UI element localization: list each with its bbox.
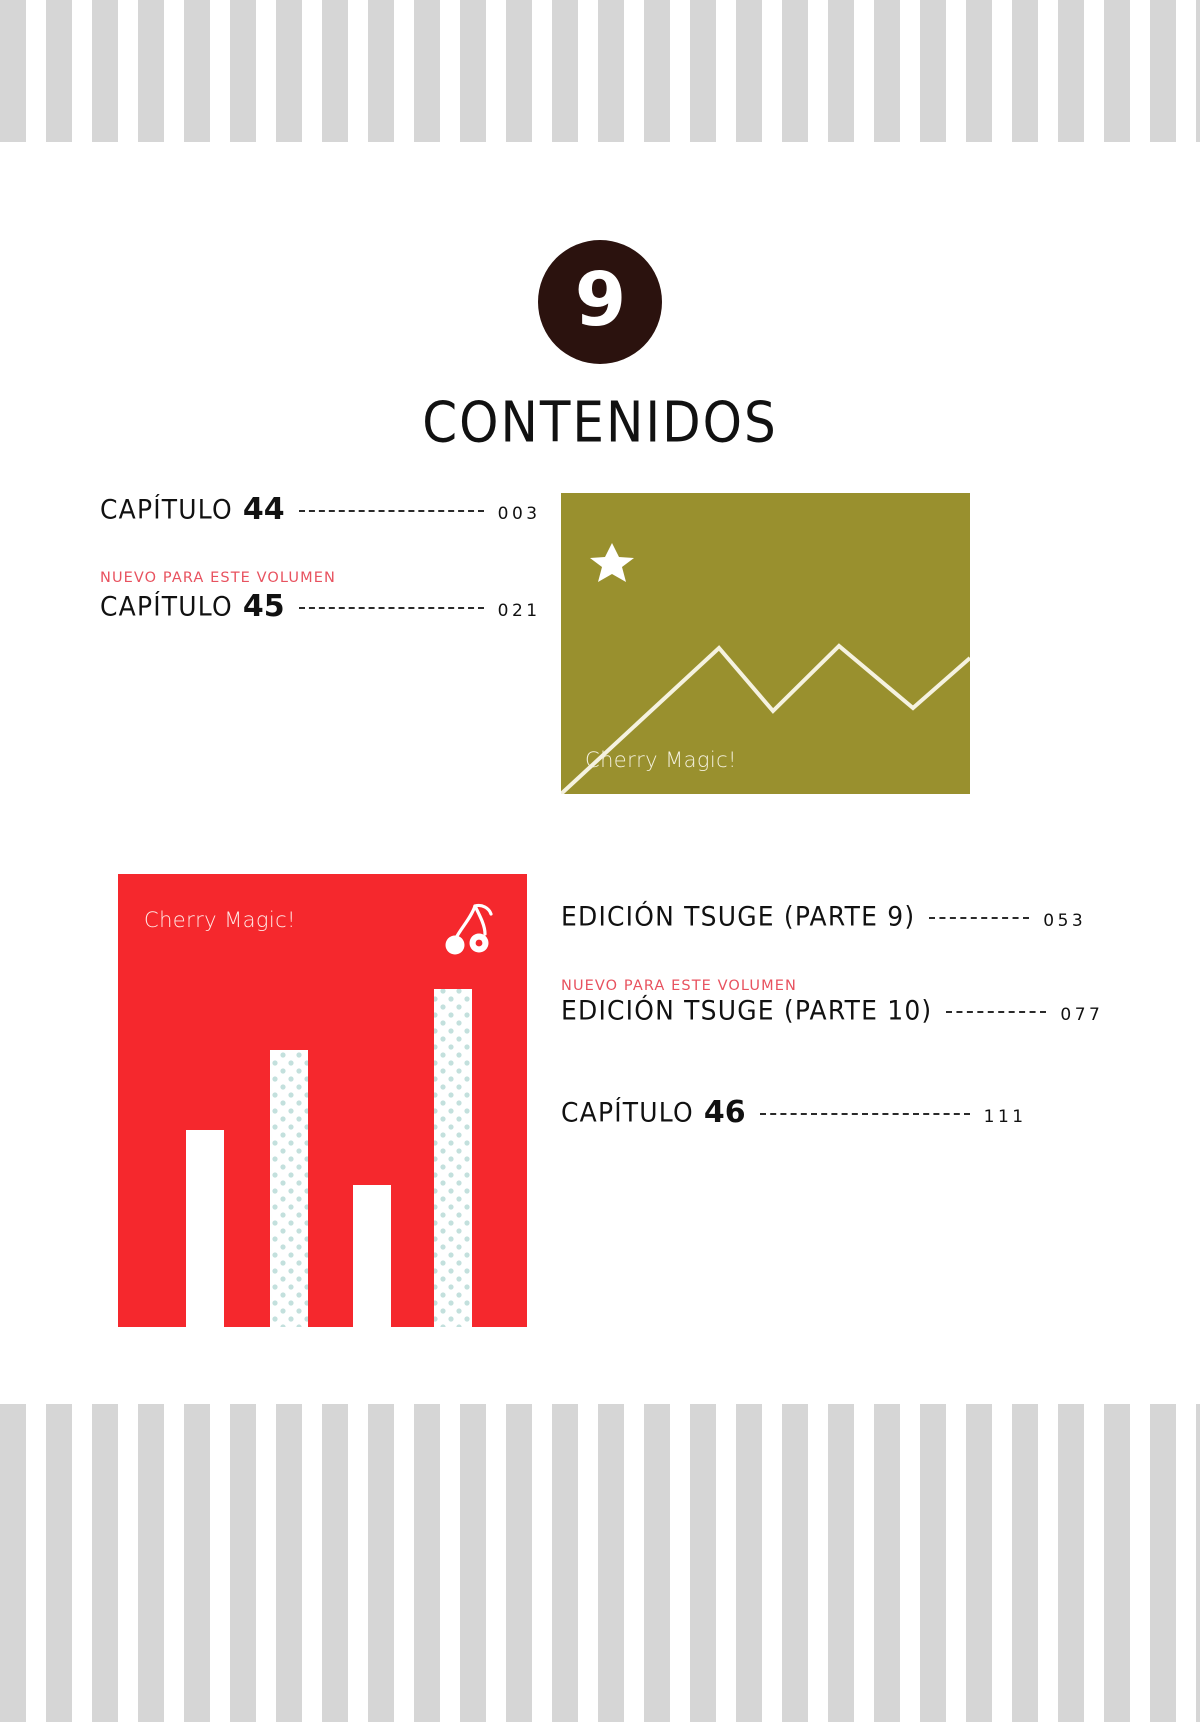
toc-entry-label: EDICIÓN TSUGE (PARTE 10) [561, 995, 932, 1026]
toc-entry-page: 021 [498, 601, 541, 621]
page-header: 9 CONTENIDOS [0, 240, 1200, 448]
toc-entry-row: CAPÍTULO 46 111 [561, 1095, 1027, 1130]
toc-entry-label: CAPÍTULO [561, 1097, 694, 1128]
toc-entry-row: CAPÍTULO 45 021 [100, 589, 541, 624]
new-volume-tag: NUEVO PARA ESTE VOLUMEN [100, 570, 541, 586]
volume-badge: 9 [538, 240, 662, 364]
toc-leader-line [299, 607, 484, 609]
volume-number: 9 [575, 263, 626, 337]
toc-leader-line [299, 510, 484, 512]
new-volume-tag: NUEVO PARA ESTE VOLUMEN [561, 978, 1103, 994]
toc-leader-line [760, 1113, 970, 1115]
toc-entry-row: EDICIÓN TSUGE (PARTE 10) 077 [561, 997, 1103, 1026]
art-block-red: Cherry Magic! [118, 874, 527, 1327]
toc-page: 9 CONTENIDOS CAPÍTULO 44 003 NUEVO PARA … [0, 0, 1200, 1722]
toc-entry-label: EDICIÓN TSUGE (PARTE 9) [561, 901, 915, 932]
toc-entry[interactable]: NUEVO PARA ESTE VOLUMEN EDICIÓN TSUGE (P… [561, 978, 1103, 1026]
toc-entry-row: EDICIÓN TSUGE (PARTE 9) 053 [561, 903, 1086, 932]
toc-entry-number: 46 [704, 1095, 746, 1130]
toc-entry-label: CAPÍTULO [100, 591, 233, 622]
art-block-olive: Cherry Magic! [561, 493, 970, 794]
star-icon [590, 543, 634, 582]
page-title: CONTENIDOS [0, 390, 1200, 455]
toc-entry-page: 053 [1043, 911, 1086, 931]
toc-entry-label: CAPÍTULO [100, 494, 233, 525]
stripe-band-bottom [0, 1404, 1200, 1722]
toc-leader-line [929, 917, 1029, 919]
toc-entry[interactable]: CAPÍTULO 44 003 [100, 492, 541, 527]
toc-entry-number: 44 [243, 492, 285, 527]
toc-entry-page: 077 [1060, 1005, 1103, 1025]
toc-leader-line [946, 1011, 1046, 1013]
cherry-icon [441, 902, 499, 960]
art-caption-olive: Cherry Magic! [585, 748, 737, 772]
stripe-band-top [0, 0, 1200, 142]
toc-entry-row: CAPÍTULO 44 003 [100, 492, 541, 527]
toc-entry-number: 45 [243, 589, 285, 624]
toc-entry-page: 003 [498, 504, 541, 524]
toc-entry[interactable]: CAPÍTULO 46 111 [561, 1095, 1027, 1130]
toc-entry[interactable]: EDICIÓN TSUGE (PARTE 9) 053 [561, 903, 1086, 932]
toc-entry-page: 111 [984, 1107, 1027, 1127]
toc-entry[interactable]: NUEVO PARA ESTE VOLUMEN CAPÍTULO 45 021 [100, 570, 541, 624]
art-caption-red: Cherry Magic! [144, 908, 296, 932]
